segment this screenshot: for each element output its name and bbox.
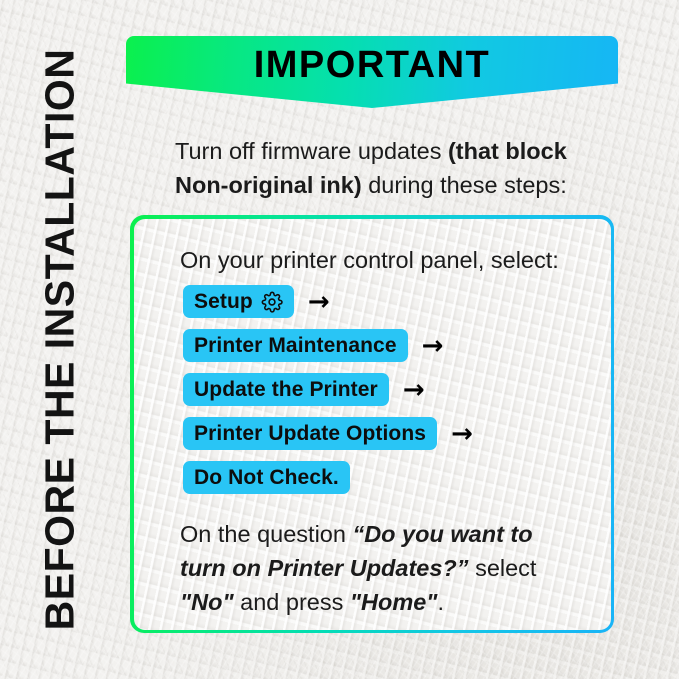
steps-panel-intro: On your printer control panel, select: [180,245,559,275]
step-pill-printer-update-options-label: Printer Update Options [194,422,426,446]
step-pill-printer-maintenance[interactable]: Printer Maintenance [183,329,408,362]
outro-quote-home: "Home" [350,589,438,615]
step-row-printer-maintenance: Printer Maintenance → [183,329,473,362]
outro-text-part1: On the question [180,521,352,547]
vertical-section-title-label: BEFORE THE INSTALLATION [37,49,84,631]
outro-text-part4: . [437,589,444,615]
outro-paragraph: On the question “Do you want to turn on … [180,517,580,619]
arrow-right-icon: → [308,289,330,315]
gear-icon [261,291,283,313]
intro-text-part1: Turn off firmware updates [175,138,448,164]
important-banner: IMPORTANT [126,36,618,108]
outro-quote-no: "No" [180,589,234,615]
step-pill-update-the-printer-label: Update the Printer [194,378,378,402]
step-pill-setup[interactable]: Setup [183,285,294,318]
step-row-printer-update-options: Printer Update Options → [183,417,473,450]
steps-panel-inner: On your printer control panel, select: S… [132,217,612,631]
outro-text-part2: select [469,555,537,581]
instruction-card: BEFORE THE INSTALLATION IMPORTANT Turn o… [0,0,679,679]
intro-text-part2: during these steps: [362,172,567,198]
arrow-right-icon: → [451,421,473,447]
step-pill-do-not-check[interactable]: Do Not Check. [183,461,350,494]
important-banner-label: IMPORTANT [254,44,491,87]
vertical-section-title: BEFORE THE INSTALLATION [0,0,120,679]
step-list: Setup → Printer Maintenance [183,285,473,505]
step-pill-printer-maintenance-label: Printer Maintenance [194,334,397,358]
step-pill-printer-update-options[interactable]: Printer Update Options [183,417,437,450]
arrow-right-icon: → [422,333,444,359]
steps-panel: On your printer control panel, select: S… [130,215,614,633]
step-pill-update-the-printer[interactable]: Update the Printer [183,373,389,406]
step-row-do-not-check: Do Not Check. [183,461,473,494]
arrow-right-icon: → [403,377,425,403]
step-pill-setup-label: Setup [194,290,253,314]
step-row-setup: Setup → [183,285,473,318]
step-row-update-the-printer: Update the Printer → [183,373,473,406]
intro-paragraph: Turn off firmware updates (that block No… [175,134,595,202]
outro-text-part3: and press [234,589,350,615]
step-pill-do-not-check-label: Do Not Check. [194,466,339,490]
